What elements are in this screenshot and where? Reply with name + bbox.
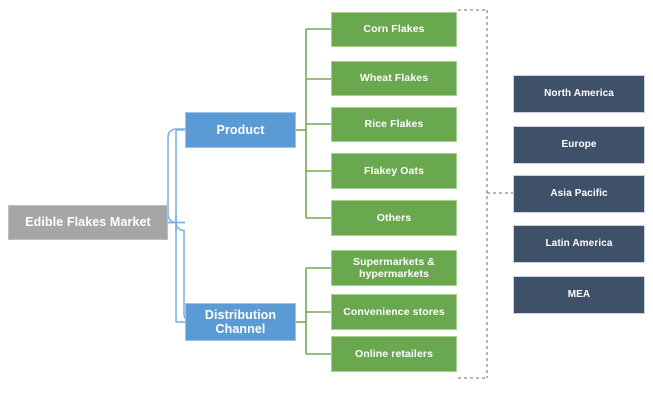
category-node-distribution-label-line2: Channel bbox=[215, 322, 265, 336]
leaf-node-rice-flakes[interactable]: Rice Flakes bbox=[331, 107, 457, 142]
leaf-node-wheat-flakes[interactable]: Wheat Flakes bbox=[331, 61, 457, 96]
leaf-node-corn-flakes-label: Corn Flakes bbox=[363, 23, 424, 35]
connector-product-to-leaves bbox=[296, 29, 331, 218]
leaf-node-supermarkets-label-line1: Supermarkets & bbox=[353, 256, 435, 268]
diagram-canvas: Edible Flakes Market Product Distributio… bbox=[0, 0, 653, 414]
connector-distribution-to-leaves bbox=[296, 268, 331, 354]
region-node-latin-america[interactable]: Latin America bbox=[513, 225, 645, 263]
leaf-node-corn-flakes[interactable]: Corn Flakes bbox=[331, 12, 457, 47]
region-node-asia-pacific[interactable]: Asia Pacific bbox=[513, 175, 645, 213]
root-node-label: Edible Flakes Market bbox=[25, 215, 151, 229]
region-node-europe-label: Europe bbox=[561, 139, 596, 151]
leaf-node-online-retailers[interactable]: Online retailers bbox=[331, 336, 457, 372]
leaf-node-convenience-stores[interactable]: Convenience stores bbox=[331, 294, 457, 330]
root-node-edible-flakes-market[interactable]: Edible Flakes Market bbox=[8, 205, 168, 240]
region-node-asia-pacific-label: Asia Pacific bbox=[550, 188, 607, 200]
category-node-product[interactable]: Product bbox=[185, 112, 296, 148]
region-node-europe[interactable]: Europe bbox=[513, 126, 645, 164]
region-node-north-america-label: North America bbox=[544, 88, 614, 100]
category-node-distribution-label-line1: Distribution bbox=[205, 308, 276, 322]
connector-root-to-categories bbox=[168, 129, 192, 322]
leaf-node-others[interactable]: Others bbox=[331, 200, 457, 236]
region-node-mea[interactable]: MEA bbox=[513, 276, 645, 314]
region-node-mea-label: MEA bbox=[568, 289, 591, 301]
leaf-node-others-label: Others bbox=[377, 212, 411, 224]
region-node-latin-america-label: Latin America bbox=[545, 238, 612, 250]
connector-dashed-regions bbox=[458, 10, 513, 378]
category-node-distribution-channel[interactable]: Distribution Channel bbox=[185, 303, 296, 341]
leaf-node-online-retailers-label: Online retailers bbox=[355, 348, 433, 360]
leaf-node-flakey-oats-label: Flakey Oats bbox=[364, 165, 424, 177]
region-node-north-america[interactable]: North America bbox=[513, 75, 645, 113]
category-node-product-label: Product bbox=[217, 123, 265, 137]
leaf-node-wheat-flakes-label: Wheat Flakes bbox=[360, 72, 428, 84]
leaf-node-rice-flakes-label: Rice Flakes bbox=[365, 118, 424, 130]
leaf-node-flakey-oats[interactable]: Flakey Oats bbox=[331, 153, 457, 189]
leaf-node-convenience-stores-label: Convenience stores bbox=[343, 306, 445, 318]
leaf-node-supermarkets-hypermarkets[interactable]: Supermarkets & hypermarkets bbox=[331, 250, 457, 286]
leaf-node-supermarkets-label-line2: hypermarkets bbox=[359, 268, 429, 280]
